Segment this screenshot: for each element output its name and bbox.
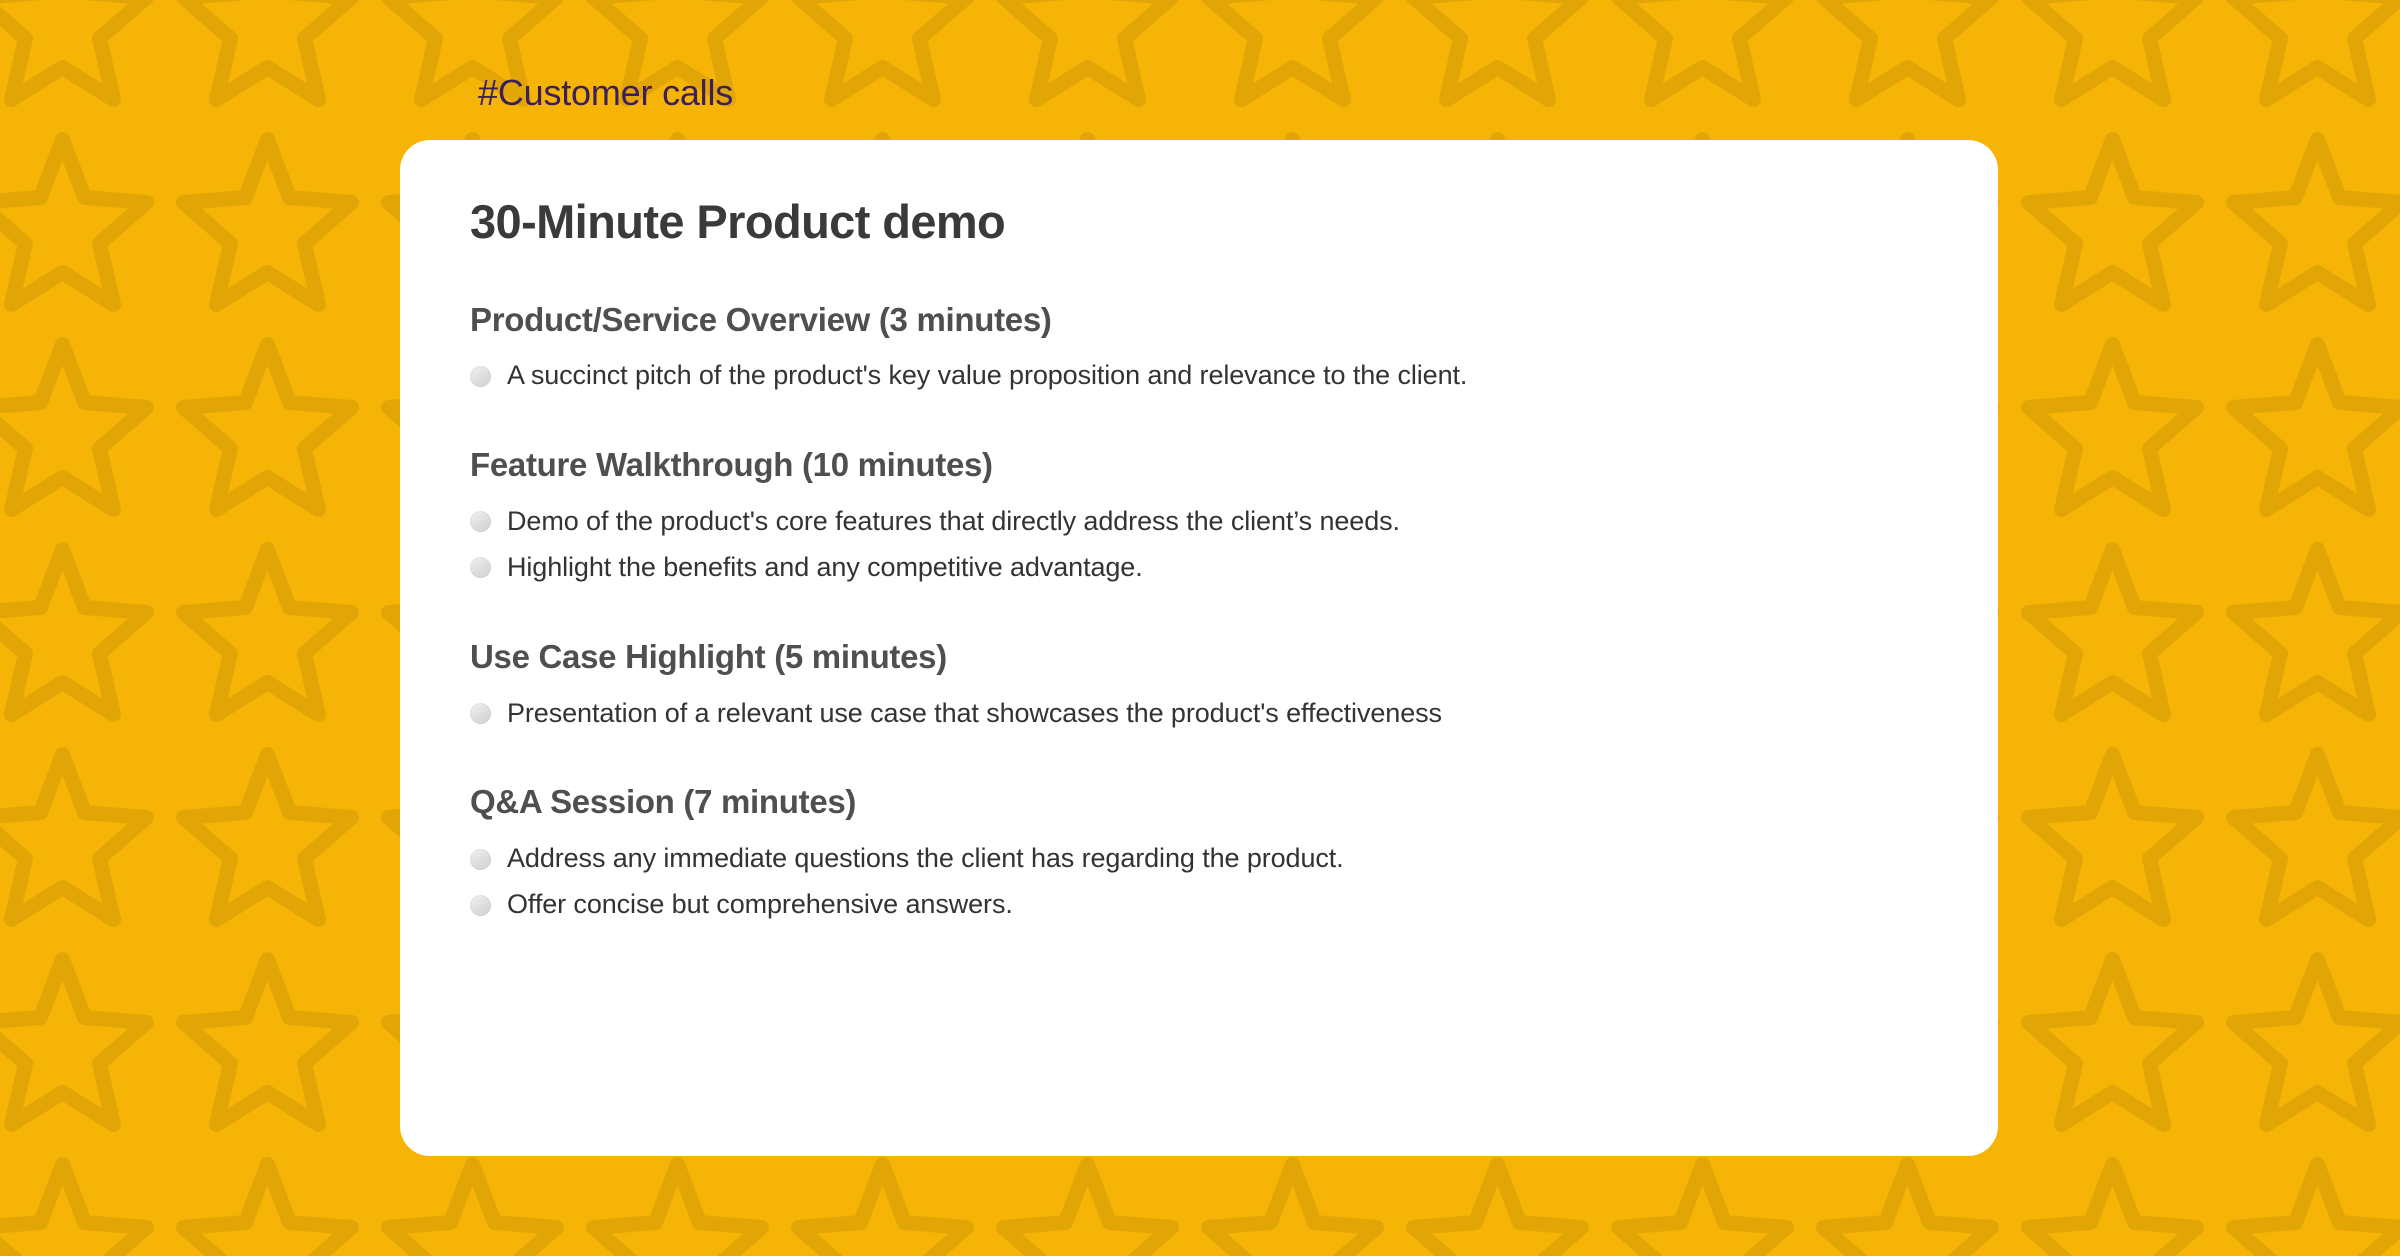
section-heading: Use Case Highlight (5 minutes) — [470, 637, 1928, 677]
list-item[interactable]: A succinct pitch of the product's key va… — [470, 353, 1928, 399]
list-item[interactable]: Presentation of a relevant use case that… — [470, 690, 1928, 736]
page-title: 30-Minute Product demo — [470, 196, 1928, 248]
bullet-circle-icon[interactable] — [470, 895, 491, 916]
bullet-circle-icon[interactable] — [470, 849, 491, 870]
section-feature-walkthrough: Feature Walkthrough (10 minutes) Demo of… — [470, 445, 1928, 591]
list-item-label: Offer concise but comprehensive answers. — [507, 888, 1013, 922]
page-hashtag-label: #Customer calls — [478, 72, 733, 114]
section-qa-session: Q&A Session (7 minutes) Address any imme… — [470, 782, 1928, 928]
list-item[interactable]: Address any immediate questions the clie… — [470, 836, 1928, 882]
bullet-circle-icon[interactable] — [470, 366, 491, 387]
list-item[interactable]: Offer concise but comprehensive answers. — [470, 882, 1928, 928]
section-heading: Product/Service Overview (3 minutes) — [470, 300, 1928, 340]
bullet-list: Presentation of a relevant use case that… — [470, 690, 1928, 736]
bullet-circle-icon[interactable] — [470, 557, 491, 578]
section-product-service-overview: Product/Service Overview (3 minutes) A s… — [470, 300, 1928, 400]
list-item[interactable]: Demo of the product's core features that… — [470, 499, 1928, 545]
list-item-label: Highlight the benefits and any competiti… — [507, 551, 1143, 585]
section-heading: Q&A Session (7 minutes) — [470, 782, 1928, 822]
bullet-list: A succinct pitch of the product's key va… — [470, 353, 1928, 399]
page-canvas: #Customer calls 30-Minute Product demo P… — [0, 0, 2400, 1256]
list-item-label: Presentation of a relevant use case that… — [507, 697, 1442, 731]
content-card: 30-Minute Product demo Product/Service O… — [400, 140, 1998, 1156]
list-item-label: A succinct pitch of the product's key va… — [507, 359, 1467, 393]
bullet-circle-icon[interactable] — [470, 511, 491, 532]
bullet-list: Demo of the product's core features that… — [470, 499, 1928, 591]
section-use-case-highlight: Use Case Highlight (5 minutes) Presentat… — [470, 637, 1928, 737]
bullet-list: Address any immediate questions the clie… — [470, 836, 1928, 928]
list-item-label: Address any immediate questions the clie… — [507, 842, 1344, 876]
list-item[interactable]: Highlight the benefits and any competiti… — [470, 545, 1928, 591]
list-item-label: Demo of the product's core features that… — [507, 505, 1400, 539]
section-heading: Feature Walkthrough (10 minutes) — [470, 445, 1928, 485]
bullet-circle-icon[interactable] — [470, 703, 491, 724]
